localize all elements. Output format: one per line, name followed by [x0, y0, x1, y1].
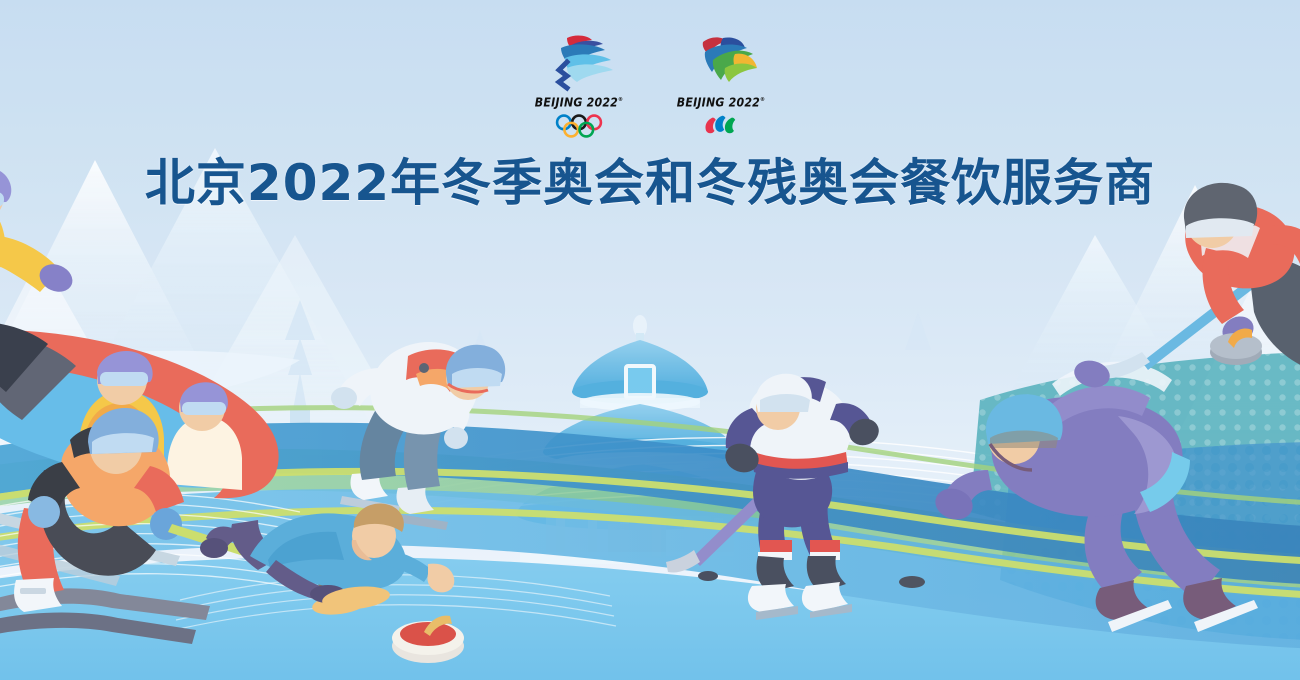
page-title: 北京2022年冬季奥会和冬残奥会餐饮服务商 — [0, 143, 1300, 215]
paralympic-trademark: ® — [760, 97, 765, 104]
paralympic-wordmark-text: BEIJING 2022 — [677, 95, 760, 110]
paralympic-emblem-icon — [679, 32, 763, 92]
olympic-rings-icon — [546, 114, 612, 138]
olympic-banner: BEIJING 2022® — [0, 0, 1300, 680]
beijing-2022-olympic-emblem: BEIJING 2022® — [531, 32, 627, 138]
beijing-2022-paralympic-emblem: BEIJING 2022® — [673, 32, 769, 136]
olympic-wordmark-text: BEIJING 2022 — [535, 95, 618, 110]
olympic-emblem-icon — [537, 32, 621, 92]
paralympic-emblem-wordmark: BEIJING 2022® — [677, 95, 765, 110]
emblem-row: BEIJING 2022® — [0, 32, 1300, 138]
olympic-trademark: ® — [618, 97, 623, 104]
agitos-icon — [695, 114, 747, 136]
olympic-emblem-wordmark: BEIJING 2022® — [535, 95, 623, 110]
